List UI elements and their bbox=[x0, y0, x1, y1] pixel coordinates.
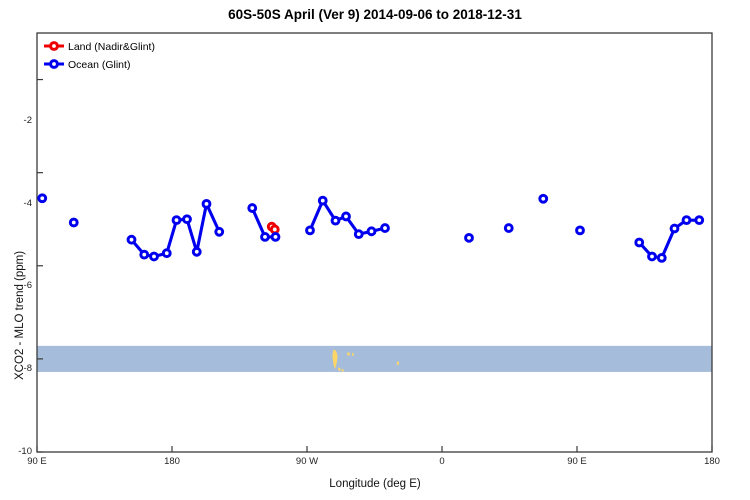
data-point bbox=[262, 234, 269, 241]
data-point bbox=[355, 231, 362, 238]
data-point bbox=[39, 195, 46, 202]
data-point bbox=[466, 234, 473, 241]
data-point bbox=[577, 227, 584, 234]
data-point bbox=[141, 251, 148, 258]
data-point bbox=[184, 216, 191, 223]
data-point bbox=[696, 217, 703, 224]
series-line bbox=[132, 204, 220, 257]
data-point bbox=[382, 225, 389, 232]
data-point bbox=[128, 236, 135, 243]
data-point bbox=[203, 200, 210, 207]
world-map-band bbox=[37, 346, 712, 372]
chart-figure: 60S-50S April (Ver 9) 2014-09-06 to 2018… bbox=[0, 0, 750, 500]
data-point bbox=[332, 217, 339, 224]
plot-canvas bbox=[0, 0, 750, 500]
data-point bbox=[271, 226, 278, 233]
map-ocean bbox=[37, 346, 712, 372]
data-point bbox=[151, 253, 158, 260]
axis-ticks bbox=[37, 80, 712, 452]
data-point bbox=[173, 217, 180, 224]
data-point bbox=[505, 225, 512, 232]
data-series bbox=[39, 195, 703, 261]
plot-frame bbox=[37, 33, 712, 452]
data-point bbox=[272, 234, 279, 241]
legend-markers bbox=[44, 43, 64, 68]
map-land bbox=[352, 353, 354, 356]
data-point bbox=[683, 217, 690, 224]
data-point bbox=[658, 254, 665, 261]
data-point bbox=[70, 219, 77, 226]
data-point bbox=[249, 205, 256, 212]
data-point bbox=[671, 225, 678, 232]
data-point bbox=[163, 250, 170, 257]
data-point bbox=[216, 228, 223, 235]
map-land bbox=[347, 352, 350, 355]
data-point bbox=[319, 197, 326, 204]
data-point bbox=[343, 213, 350, 220]
data-point bbox=[636, 239, 643, 246]
data-point bbox=[193, 248, 200, 255]
data-point bbox=[307, 227, 314, 234]
data-point bbox=[649, 253, 656, 260]
series-line bbox=[639, 220, 699, 258]
data-point bbox=[368, 228, 375, 235]
data-point bbox=[540, 195, 547, 202]
